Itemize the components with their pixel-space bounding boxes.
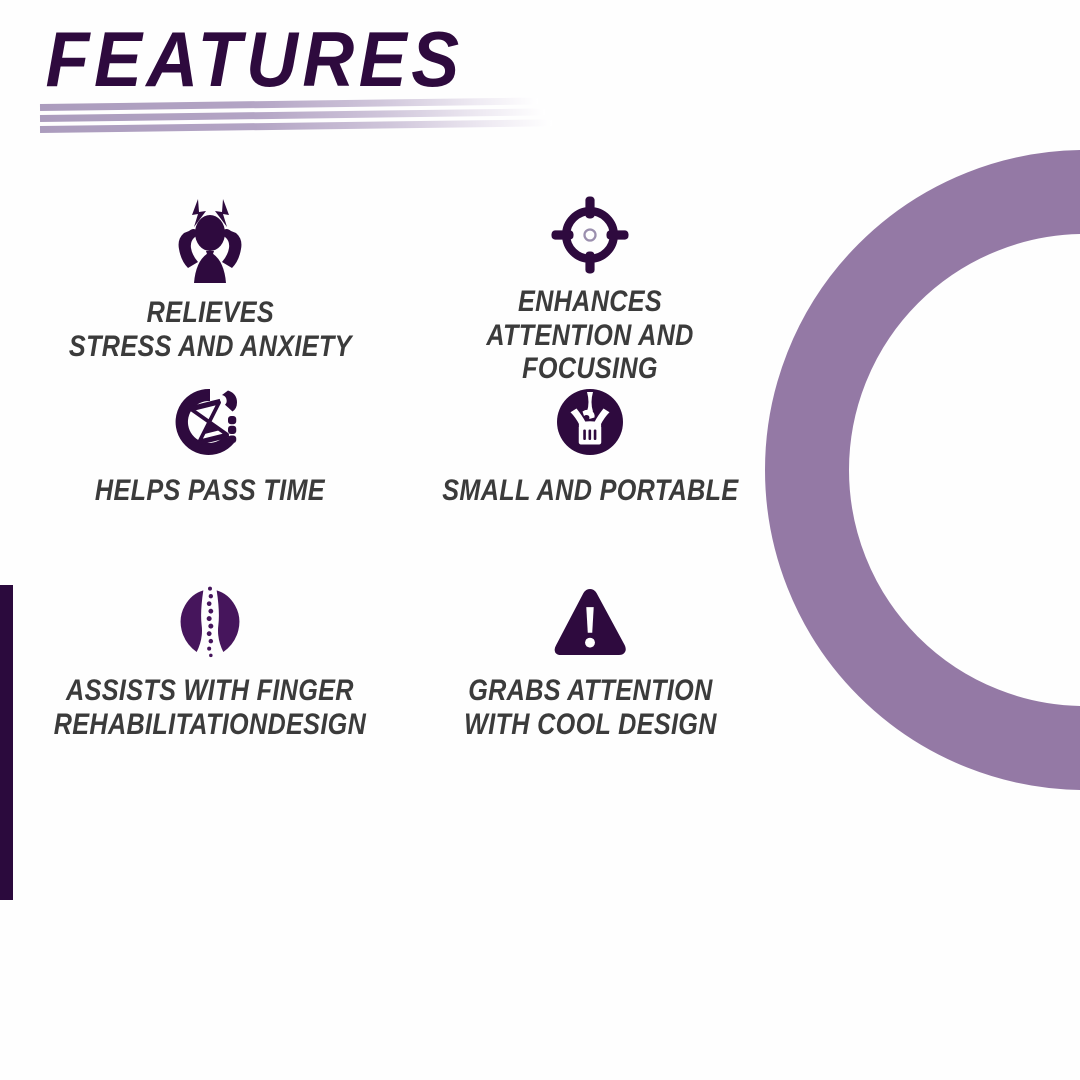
hourglass-cycle-icon (174, 386, 246, 458)
page-title: FEATURES (40, 20, 610, 98)
ring-shape (765, 150, 1080, 790)
crosshair-target-icon (541, 190, 639, 279)
features-row-3: ASSISTS WITH FINGER REHABILITATIONDESIGN… (20, 582, 780, 782)
feature-label: ASSISTS WITH FINGER REHABILITATIONDESIGN (54, 674, 366, 741)
features-grid: RELIEVES STRESS AND ANXIETY (20, 190, 780, 782)
feature-label: SMALL AND PORTABLE (442, 474, 738, 508)
feature-label: ENHANCES ATTENTION AND FOCUSING (430, 285, 749, 386)
feature-label: RELIEVES STRESS AND ANXIETY (69, 296, 352, 363)
features-row-1: RELIEVES STRESS AND ANXIETY (20, 190, 780, 386)
underline-rule-3 (40, 119, 552, 133)
feature-item-small-portable: SMALL AND PORTABLE (400, 386, 780, 582)
left-accent-bar (0, 585, 13, 900)
feature-item-grabs-attention: GRABS ATTENTION WITH COOL DESIGN (400, 582, 780, 782)
feature-label: HELPS PASS TIME (95, 474, 325, 508)
title-underline-rules (40, 104, 580, 138)
hand-holding-object-icon (554, 386, 626, 458)
features-row-2: HELPS PASS TIME (20, 386, 780, 582)
stressed-person-icon (161, 190, 259, 288)
feature-poster: FEATURES (0, 0, 1080, 1080)
decorative-ring (765, 150, 1080, 790)
feature-item-relieves-stress: RELIEVES STRESS AND ANXIETY (20, 190, 400, 386)
healing-hands-icon (170, 582, 250, 662)
feature-item-enhances-attention: ENHANCES ATTENTION AND FOCUSING (400, 190, 780, 386)
title-block: FEATURES (40, 20, 660, 98)
feature-label: GRABS ATTENTION WITH COOL DESIGN (464, 674, 717, 741)
feature-item-helps-pass-time: HELPS PASS TIME (20, 386, 400, 582)
warning-triangle-icon (550, 582, 630, 662)
feature-item-finger-rehabilitation: ASSISTS WITH FINGER REHABILITATIONDESIGN (20, 582, 400, 782)
